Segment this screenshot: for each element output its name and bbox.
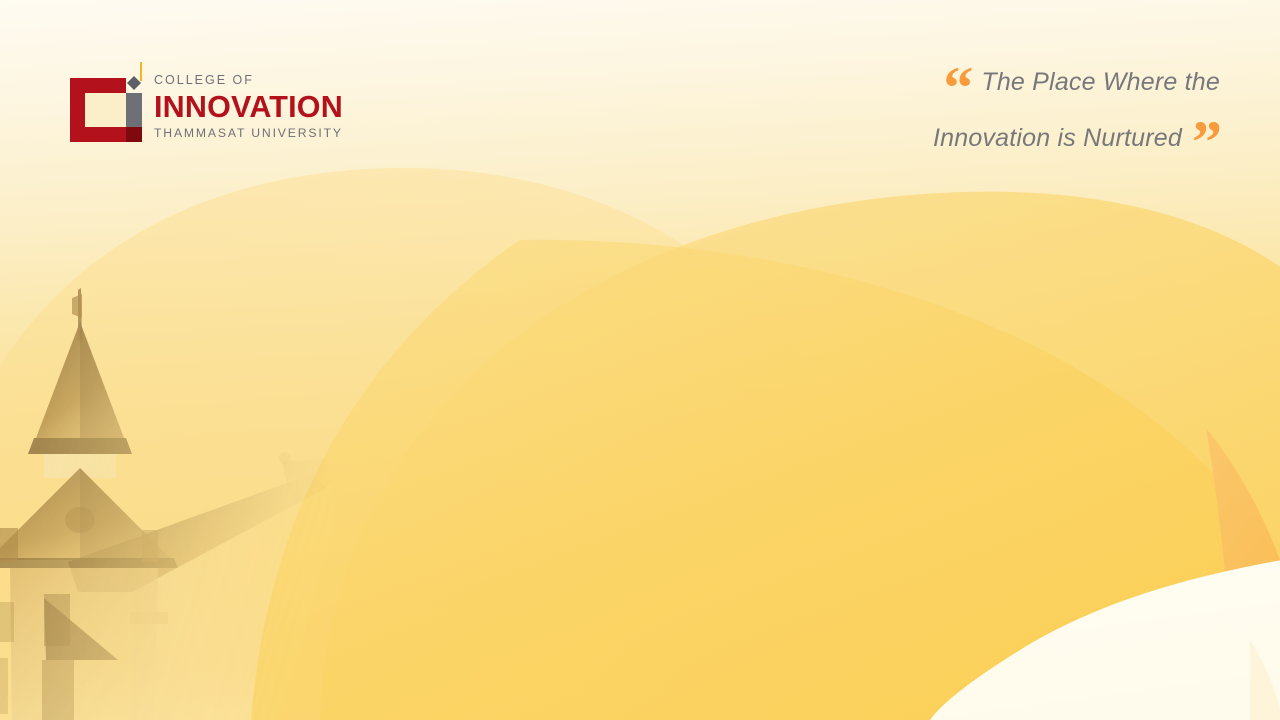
photo-tower-body	[10, 568, 158, 720]
shape-leaf-main	[250, 240, 1280, 720]
shape-cream-wedge	[930, 560, 1280, 720]
photo-far-gable	[282, 458, 332, 488]
photo-roof-lower	[0, 468, 172, 560]
logo-diamond-dot	[127, 76, 141, 90]
tagline-line-2: Innovation is Nurtured	[933, 120, 1182, 156]
photo-spire-collar	[28, 438, 132, 454]
shape-soft-left-dome	[0, 168, 901, 720]
tower-building-photo	[0, 262, 342, 720]
college-logo[interactable]: COLLEGE OF INNOVATION THAMMASAT UNIVERSI…	[70, 62, 343, 142]
photo-far-finial	[279, 452, 291, 464]
photo-roof-lower-shade	[80, 468, 172, 560]
shape-cream-sliver	[1250, 640, 1280, 720]
tagline-line-1: The Place Where the	[981, 64, 1220, 100]
logo-mark-svg	[70, 62, 142, 142]
photo-window-upper	[44, 594, 70, 646]
tagline-quote: “ The Place Where the Innovation is Nurt…	[840, 64, 1220, 172]
logo-orange-square	[140, 62, 142, 81]
logo-text-thammasat-university: THAMMASAT UNIVERSITY	[154, 127, 343, 139]
photo-finial-flag	[72, 294, 82, 318]
logo-inner-square	[85, 93, 126, 127]
photo-spire-upper	[36, 322, 124, 438]
photo-window-lower	[42, 660, 74, 720]
photo-window-side-lower	[0, 658, 8, 714]
photo-long-roof	[68, 474, 327, 592]
logo-text-college-of: COLLEGE OF	[154, 74, 343, 87]
photo-right-wall	[132, 484, 338, 720]
photo-spire-upper-shade	[80, 322, 124, 438]
logo-dark-red-foot	[126, 127, 142, 142]
photo-porch-roof	[44, 598, 118, 660]
logo-text-innovation: INNOVATION	[154, 92, 343, 123]
slide-canvas: COLLEGE OF INNOVATION THAMMASAT UNIVERSI…	[0, 0, 1280, 720]
quote-open-icon: “	[943, 58, 971, 118]
quote-close-icon: ”	[1192, 112, 1220, 172]
photo-finial-rod	[78, 288, 82, 340]
photo-chimney-left	[0, 528, 18, 562]
tagline-line-2-row: Innovation is Nurtured ”	[840, 120, 1220, 172]
photo-wall-ledge	[130, 612, 168, 624]
photo-lantern-band	[44, 454, 116, 478]
tagline-line-1-row: “ The Place Where the	[840, 64, 1220, 118]
photo-chimney-right	[142, 530, 158, 562]
photo-roof-oculus	[65, 507, 95, 533]
photo-roof-eave	[0, 558, 178, 568]
shape-orange-band	[1206, 428, 1280, 720]
college-logo-wordmark: COLLEGE OF INNOVATION THAMMASAT UNIVERSI…	[154, 62, 343, 139]
shape-leaf-upper	[320, 192, 1280, 720]
logo-grey-stem	[126, 93, 142, 127]
photo-window-side	[0, 602, 14, 642]
college-logo-mark	[70, 62, 142, 142]
